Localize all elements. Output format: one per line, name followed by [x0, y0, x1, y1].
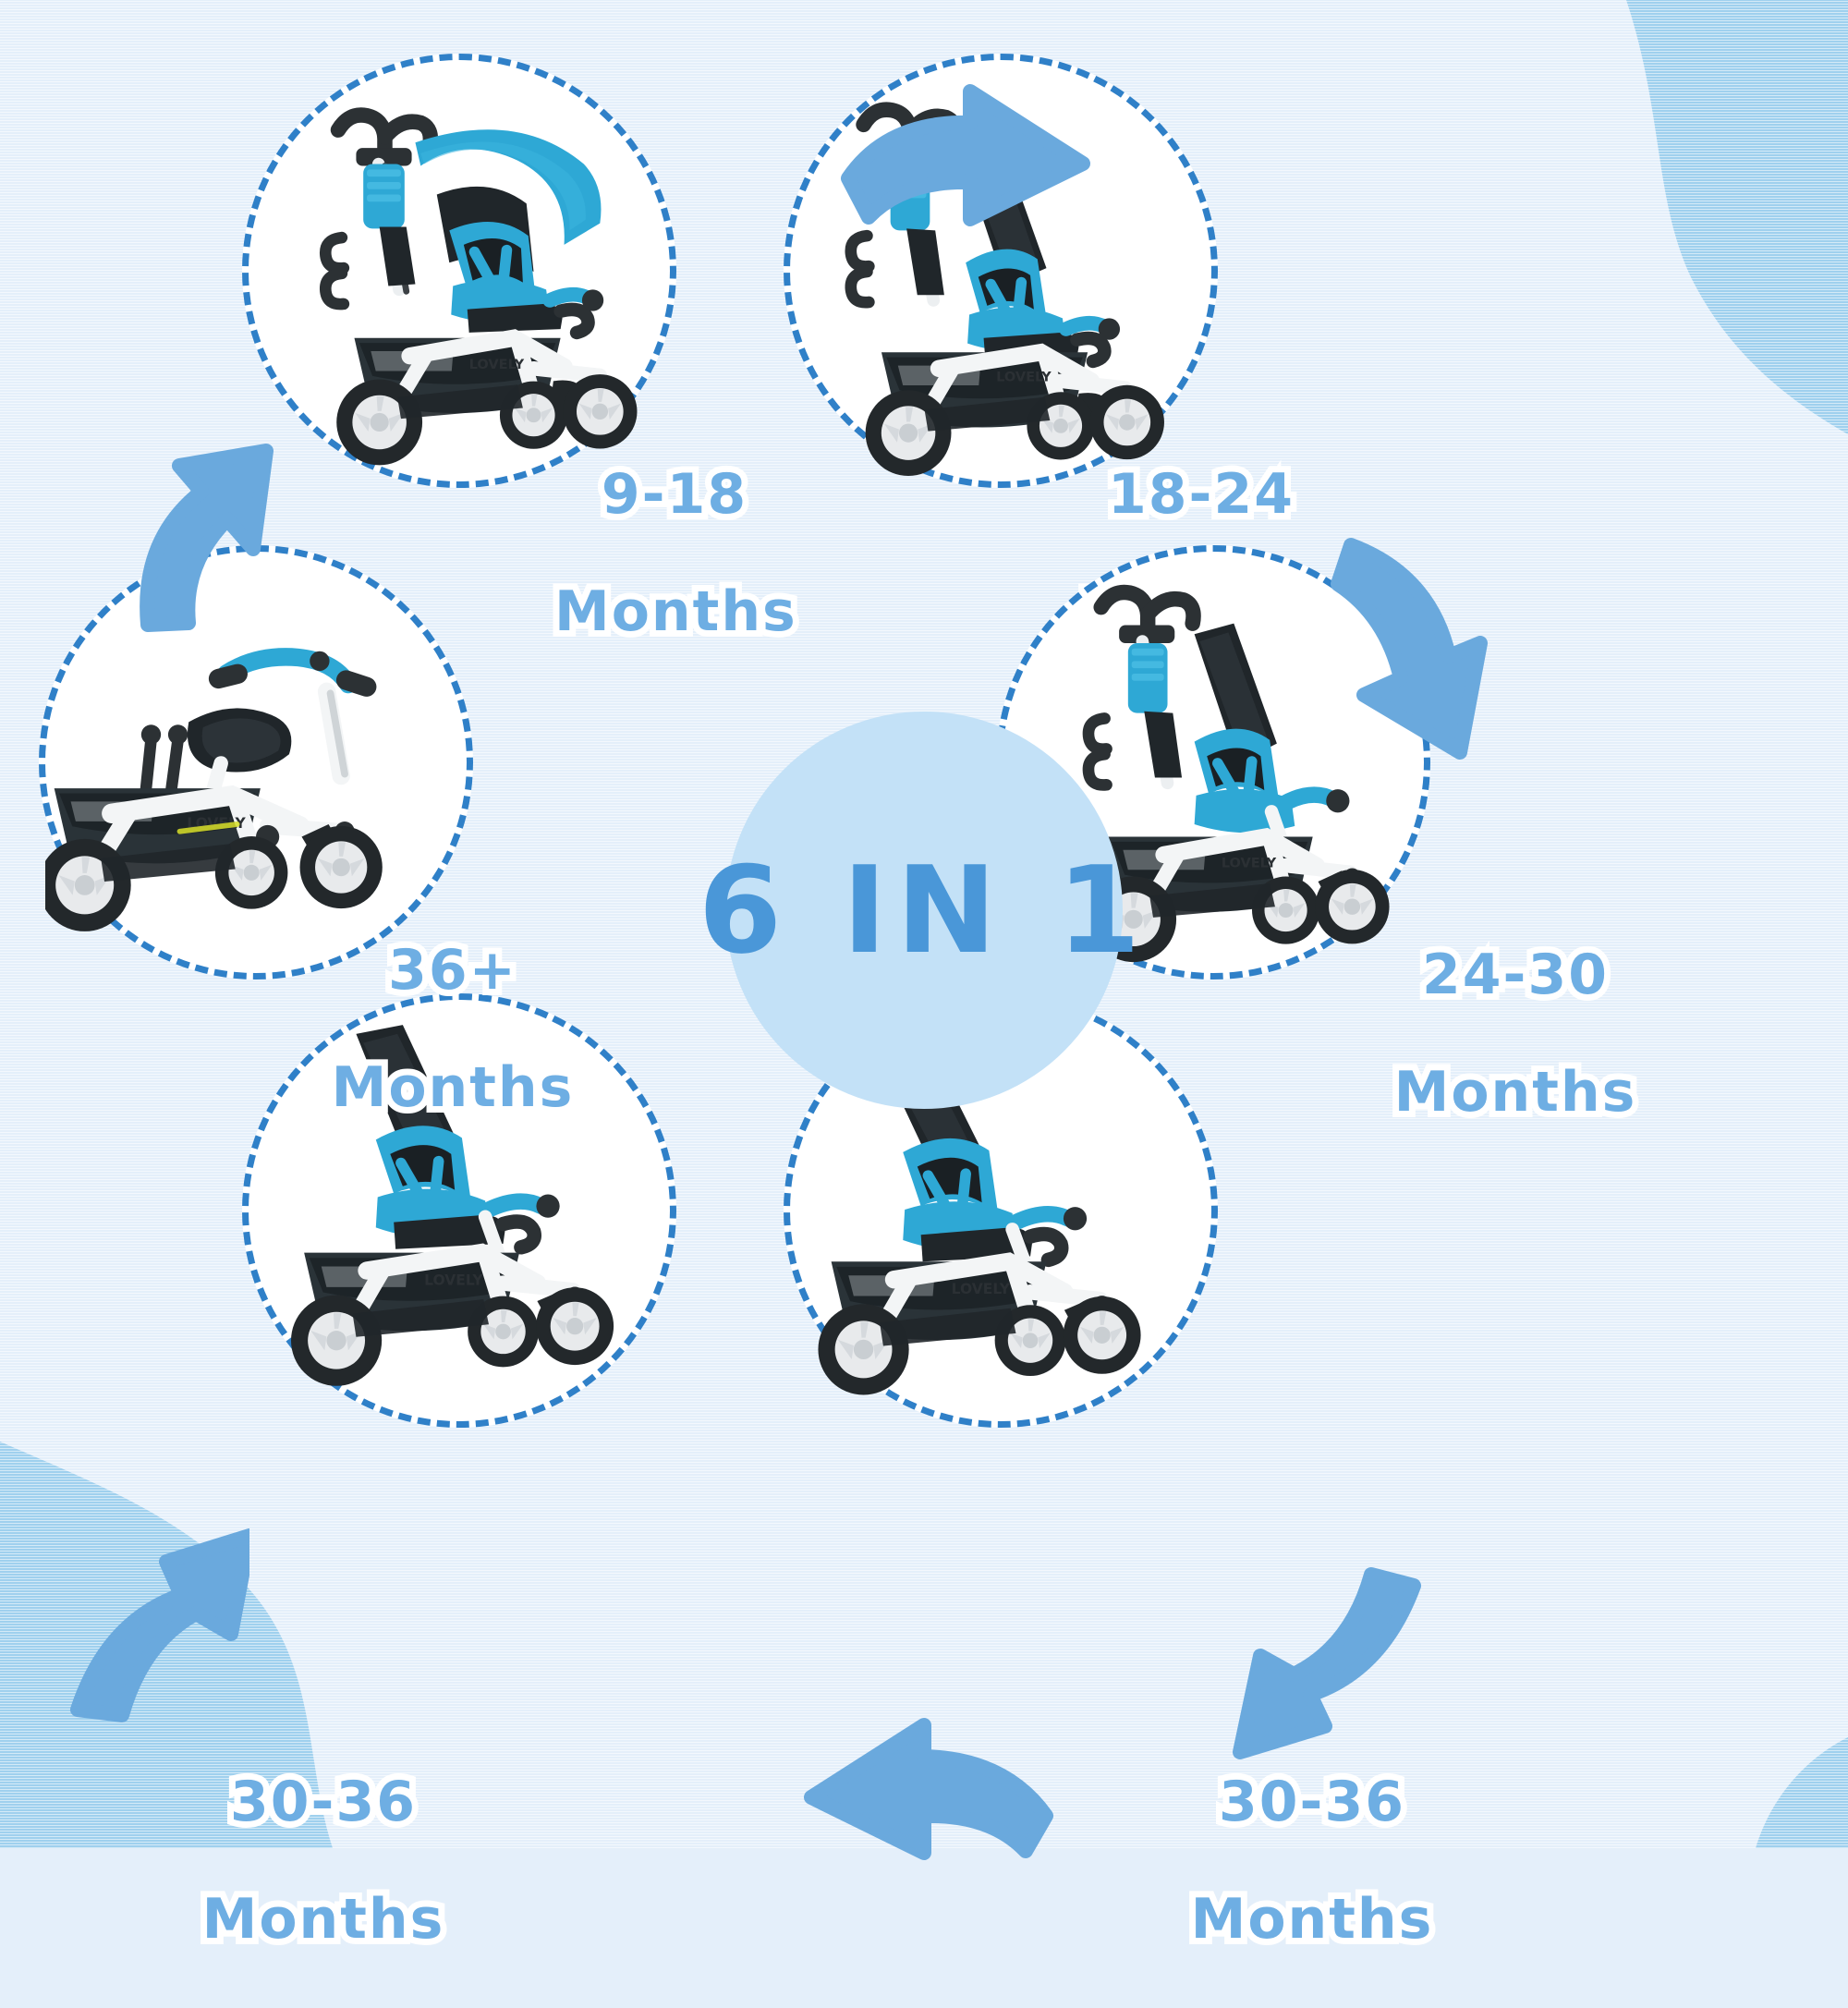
brand-mark: LOVELY — [424, 1272, 483, 1289]
arrow-top-right — [832, 79, 1100, 245]
center-badge-6-in-1: 6 IN 1 — [725, 712, 1123, 1109]
center-badge-label: 6 IN 1 — [699, 840, 1150, 980]
age-label-36-plus-months: 36+ Months — [314, 882, 591, 1176]
arrow-top-left — [92, 434, 277, 638]
brand-mark: LOVELY — [469, 357, 525, 372]
age-label-24-30-months: 24-30 Months — [1377, 887, 1654, 1181]
age-label-9-18-months: 9-18 Months — [554, 407, 795, 700]
arrow-bottom-right — [1229, 1562, 1423, 1793]
brand-mark: LOVELY — [996, 369, 1052, 384]
brand-mark: LOVELY — [1222, 856, 1277, 871]
brand-mark: LOVELY — [952, 1281, 1011, 1297]
age-label-30-36-months-a: 30-36 Months — [171, 1714, 476, 2008]
arrow-right-down — [1331, 527, 1525, 767]
arrow-left-up — [55, 1497, 249, 1728]
